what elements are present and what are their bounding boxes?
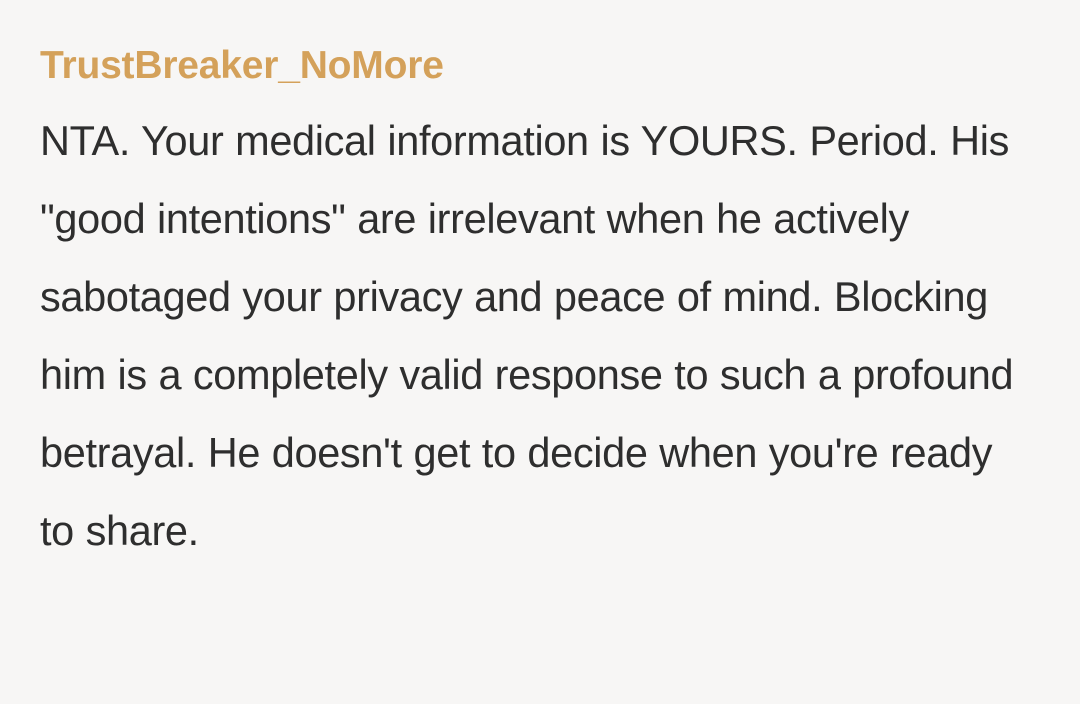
comment-card: TrustBreaker_NoMore NTA. Your medical in… [0, 0, 1080, 704]
comment-body-text: NTA. Your medical information is YOURS. … [40, 102, 1036, 570]
comment-author-username[interactable]: TrustBreaker_NoMore [40, 44, 1036, 88]
